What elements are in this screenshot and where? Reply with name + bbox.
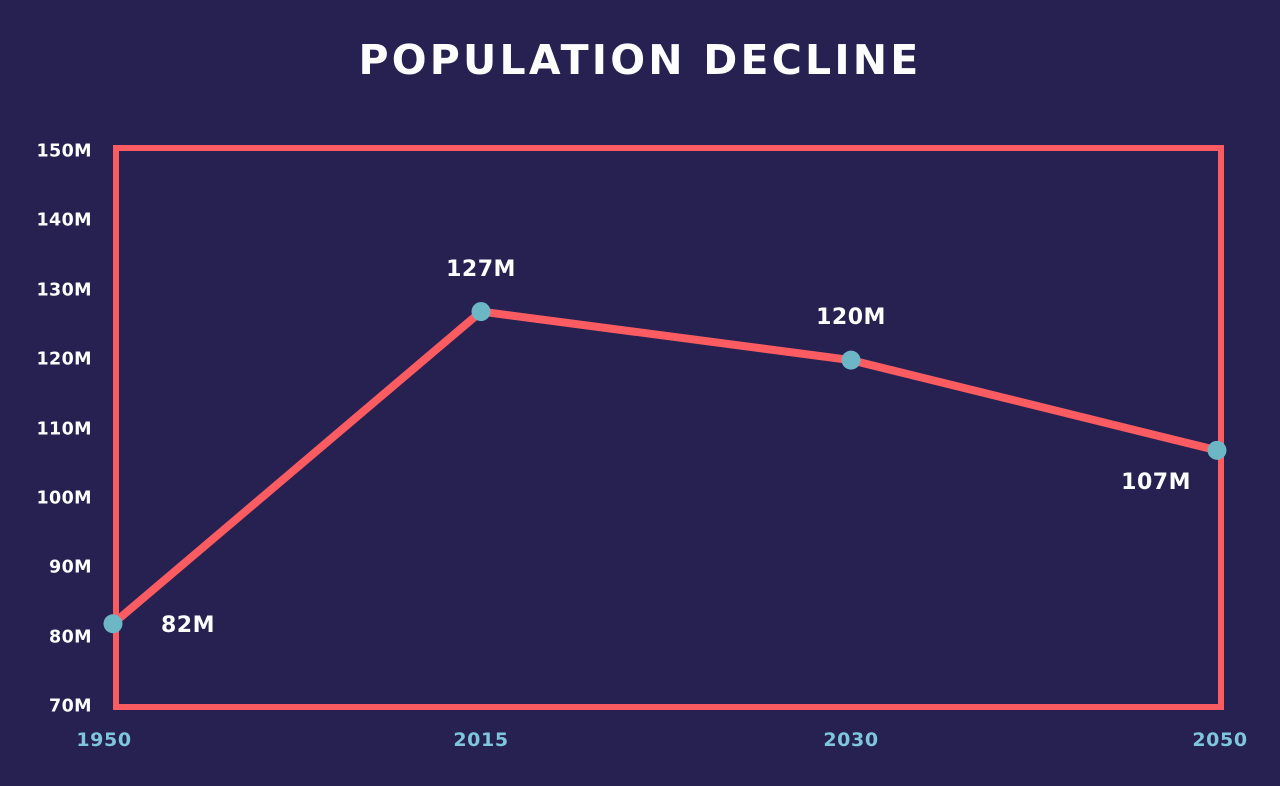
y-tick-label: 80M bbox=[49, 629, 92, 647]
chart-title: POPULATION DECLINE bbox=[0, 40, 1280, 81]
chart-container: POPULATION DECLINE 150M140M130M120M110M1… bbox=[0, 0, 1280, 786]
y-tick-label: 90M bbox=[49, 560, 92, 578]
y-tick-label: 70M bbox=[49, 698, 92, 716]
x-tick-label: 1950 bbox=[76, 731, 131, 750]
y-tick-label: 140M bbox=[36, 213, 92, 231]
data-point-label: 120M bbox=[816, 307, 886, 329]
data-point-label: 127M bbox=[446, 259, 516, 281]
y-tick-label: 100M bbox=[36, 490, 92, 508]
data-point-label: 82M bbox=[161, 615, 215, 637]
x-tick-label: 2030 bbox=[823, 731, 878, 750]
x-tick-label: 2015 bbox=[453, 731, 508, 750]
plot-area-frame bbox=[113, 145, 1224, 710]
y-tick-label: 120M bbox=[36, 351, 92, 369]
data-point-label: 107M bbox=[1121, 472, 1191, 494]
y-tick-label: 150M bbox=[36, 143, 92, 161]
y-tick-label: 110M bbox=[36, 421, 92, 439]
x-tick-label: 2050 bbox=[1192, 731, 1247, 750]
y-tick-label: 130M bbox=[36, 282, 92, 300]
